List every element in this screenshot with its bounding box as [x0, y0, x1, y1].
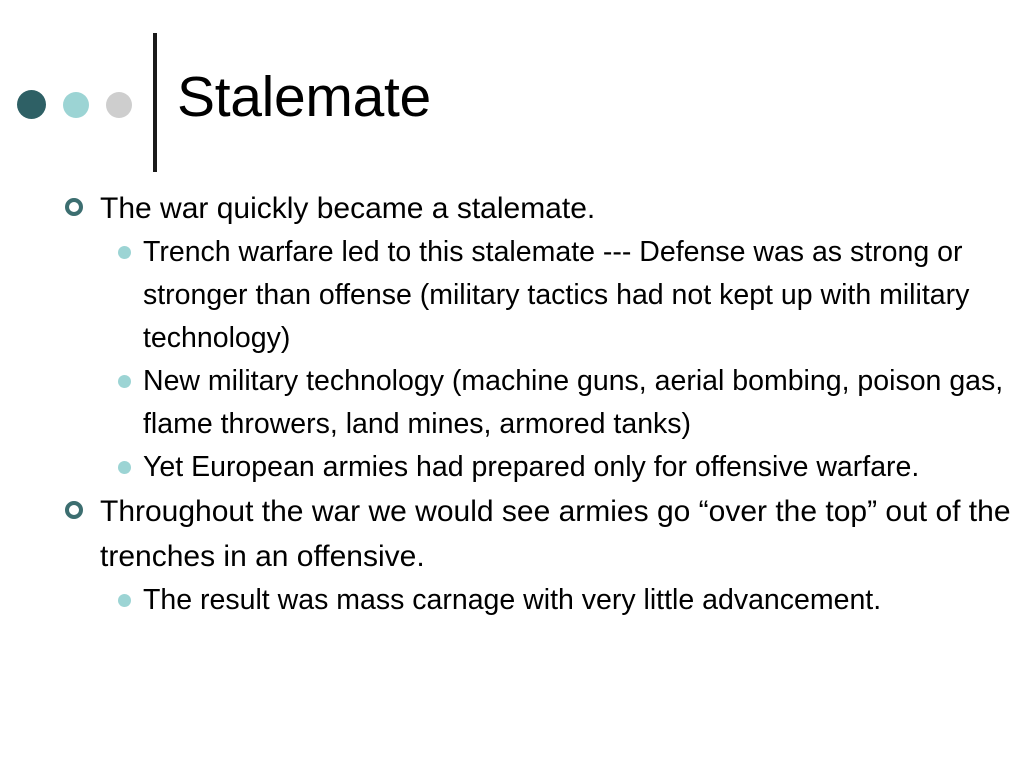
slide-body-list: The war quickly became a stalemate. Tren…	[0, 186, 1024, 622]
page-title: Stalemate	[177, 64, 431, 130]
list-item: Trench warfare led to this stalemate ---…	[0, 231, 1024, 360]
decorative-dot-dark-icon	[17, 90, 46, 119]
slide-title-block: Stalemate	[0, 0, 1024, 185]
slide: Stalemate The war quickly became a stale…	[0, 0, 1024, 768]
list-item: New military technology (machine guns, a…	[0, 360, 1024, 446]
decorative-dot-teal-icon	[63, 92, 89, 118]
list-item-text: The result was mass carnage with very li…	[143, 584, 881, 616]
list-item: The result was mass carnage with very li…	[0, 579, 1024, 622]
bullet-circle-filled-icon	[118, 594, 131, 607]
bullet-circle-filled-icon	[118, 461, 131, 474]
bullet-circle-outline-icon	[65, 198, 83, 216]
list-item: Yet European armies had prepared only fo…	[0, 446, 1024, 489]
title-divider-rule	[153, 33, 157, 172]
list-item-text: The war quickly became a stalemate.	[100, 192, 595, 225]
list-item: Throughout the war we would see armies g…	[0, 489, 1024, 579]
list-item: The war quickly became a stalemate.	[0, 186, 1024, 231]
decorative-dot-gray-icon	[106, 92, 132, 118]
decorative-dots	[17, 90, 132, 119]
list-item-text: New military technology (machine guns, a…	[143, 365, 1003, 440]
list-item-text: Throughout the war we would see armies g…	[100, 495, 1011, 573]
bullet-circle-filled-icon	[118, 246, 131, 259]
bullet-circle-outline-icon	[65, 501, 83, 519]
list-item-text: Trench warfare led to this stalemate ---…	[143, 236, 969, 354]
bullet-circle-filled-icon	[118, 375, 131, 388]
list-item-text: Yet European armies had prepared only fo…	[143, 451, 919, 483]
